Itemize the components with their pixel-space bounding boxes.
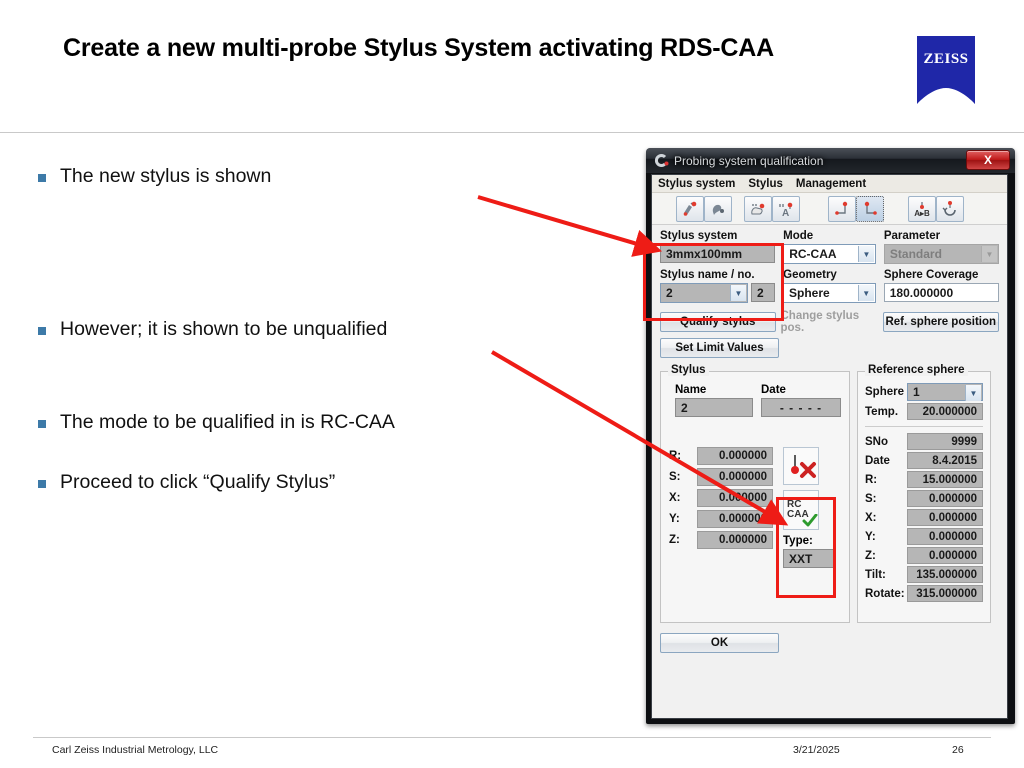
stylus-name-col-label: Name (675, 384, 753, 396)
reference-sphere-row: Date 8.4.2015 (865, 452, 983, 469)
svg-text:ZEISS: ZEISS (923, 51, 968, 67)
footer-company: Carl Zeiss Industrial Metrology, LLC (52, 744, 218, 756)
bullet-marker-icon (38, 327, 46, 335)
rs-value: 8.4.2015 (907, 452, 983, 469)
svg-text:A▸B: A▸B (914, 209, 930, 218)
stylus-angle-icon[interactable]: A (772, 196, 800, 222)
stylus-value-field: 0.000000 (697, 510, 773, 528)
mode-dropdown[interactable]: RC-CAA ▼ (783, 244, 876, 264)
zeiss-logo: ZEISS (917, 36, 975, 104)
stylus-system-new-icon[interactable] (676, 196, 704, 222)
stylus-date-col-label: Date (761, 384, 841, 396)
probe-position-selected-icon[interactable] (856, 196, 884, 222)
chevron-down-icon: ▼ (981, 246, 997, 262)
sphere-coverage-label: Sphere Coverage (884, 269, 999, 281)
stylus-value-field: 0.000000 (697, 489, 773, 507)
chevron-down-icon: ▼ (858, 285, 874, 301)
stylus-value-label: Z: (669, 534, 697, 546)
rs-label: Z: (865, 550, 907, 562)
bullet-item: Proceed to click “Qualify Stylus” (38, 471, 335, 494)
stylus-value-row: S: 0.000000 (669, 468, 773, 486)
reference-sphere-row: S: 0.000000 (865, 490, 983, 507)
reference-sphere-row: Tilt: 135.000000 (865, 566, 983, 583)
rs-value: 135.000000 (907, 566, 983, 583)
bullet-item: The mode to be qualified in is RC-CAA (38, 411, 395, 434)
toolbar-group-1 (676, 196, 732, 222)
dialog-toolbar: A (652, 193, 1007, 225)
footer-divider (33, 737, 991, 738)
header-divider (0, 132, 1024, 133)
sphere-value: 1 (913, 385, 920, 399)
stylus-hand-icon[interactable] (744, 196, 772, 222)
reference-sphere-group-title: Reference sphere (865, 364, 968, 376)
ref-sphere-position-button[interactable]: Ref. sphere position (883, 312, 999, 332)
stylus-value-label: R: (669, 450, 697, 462)
rs-value: 0.000000 (907, 490, 983, 507)
reference-sphere-group: Reference sphere Sphere 1 ▼ Temp. 20.000… (857, 371, 991, 623)
rs-label: Rotate: (865, 588, 907, 600)
toolbar-group-2: A (744, 196, 800, 222)
bullet-marker-icon (38, 420, 46, 428)
highlight-box-status-icons (776, 497, 836, 598)
sphere-coverage-field[interactable]: 180.000000 (884, 283, 999, 302)
chevron-down-icon: ▼ (858, 246, 874, 262)
geometry-value: Sphere (789, 286, 830, 300)
rs-value: 0.000000 (907, 547, 983, 564)
stylus-value-field: 0.000000 (697, 447, 773, 465)
bullet-item: The new stylus is shown (38, 165, 271, 188)
sphere-label: Sphere (865, 386, 907, 398)
stylus-unqualified-icon (783, 447, 819, 485)
mode-label: Mode (783, 230, 876, 242)
temp-label: Temp. (865, 406, 907, 418)
rs-value: 0.000000 (907, 528, 983, 545)
rs-value: 315.000000 (907, 585, 983, 602)
bullet-text: Proceed to click “Qualify Stylus” (60, 471, 335, 494)
stylus-value-label: X: (669, 492, 697, 504)
rs-value: 0.000000 (907, 509, 983, 526)
rs-label: Tilt: (865, 569, 907, 581)
menu-stylus[interactable]: Stylus (748, 178, 783, 190)
highlight-box-stylus-system (643, 243, 784, 321)
stylus-value-row: Y: 0.000000 (669, 510, 773, 528)
rs-label: S: (865, 493, 907, 505)
probe-position-icon[interactable] (828, 196, 856, 222)
bullet-text: However; it is shown to be unqualified (60, 318, 387, 341)
limit-button-row: Set Limit Values (660, 338, 999, 358)
menu-stylus-system[interactable]: Stylus system (658, 178, 735, 190)
temp-value: 20.000000 (907, 403, 983, 420)
rs-label: Date (865, 455, 907, 467)
geometry-dropdown[interactable]: Sphere ▼ (783, 283, 876, 303)
footer-page-number: 26 (952, 744, 964, 756)
ok-button-row: OK (660, 633, 999, 653)
stylus-name-readout: 2 (675, 398, 753, 417)
probing-system-qualification-dialog: Probing system qualification X Stylus sy… (646, 148, 1015, 724)
svg-text:A: A (782, 208, 789, 218)
menu-management[interactable]: Management (796, 178, 866, 190)
ok-button[interactable]: OK (660, 633, 779, 653)
parameter-label: Parameter (884, 230, 999, 242)
stylus-group-title: Stylus (668, 364, 709, 376)
stylus-values-list: R: 0.000000 S: 0.000000 X: 0.000000 (669, 447, 773, 568)
reference-sphere-divider (865, 426, 983, 427)
stylus-system-label: Stylus system (660, 230, 775, 242)
rotate-icon[interactable] (936, 196, 964, 222)
stylus-value-row: R: 0.000000 (669, 447, 773, 465)
geometry-label: Geometry (783, 269, 876, 281)
rs-value: 9999 (907, 433, 983, 450)
chevron-down-icon: ▼ (965, 385, 981, 401)
bullet-item: However; it is shown to be unqualified (38, 318, 387, 341)
rs-label: X: (865, 512, 907, 524)
bullet-text: The new stylus is shown (60, 165, 271, 188)
sphere-dropdown[interactable]: 1 ▼ (907, 383, 983, 401)
reference-sphere-row: X: 0.000000 (865, 509, 983, 526)
app-icon (654, 154, 669, 167)
parameter-dropdown: Standard ▼ (884, 244, 999, 264)
bullet-marker-icon (38, 480, 46, 488)
a-to-b-icon[interactable]: A▸B (908, 196, 936, 222)
rs-value: 15.000000 (907, 471, 983, 488)
reference-sphere-row: Z: 0.000000 (865, 547, 983, 564)
bullet-marker-icon (38, 174, 46, 182)
change-stylus-pos-button: Change stylus pos. (781, 312, 878, 332)
close-icon[interactable]: X (966, 150, 1010, 170)
mode-value: RC-CAA (789, 247, 836, 261)
page-title: Create a new multi-probe Stylus System a… (63, 33, 843, 64)
reference-sphere-row: R: 15.000000 (865, 471, 983, 488)
stylus-value-label: Y: (669, 513, 697, 525)
stylus-value-label: S: (669, 471, 697, 483)
toolbar-group-3 (828, 196, 884, 222)
stylus-value-row: Z: 0.000000 (669, 531, 773, 549)
set-limit-values-button[interactable]: Set Limit Values (660, 338, 779, 358)
form-label-row-1: Stylus system Mode Parameter (660, 230, 999, 244)
reference-sphere-row: Y: 0.000000 (865, 528, 983, 545)
reference-sphere-row: Rotate: 315.000000 (865, 585, 983, 602)
sphere-select-row: Sphere 1 ▼ (865, 383, 983, 401)
stylus-date-readout: - - - - - (761, 398, 841, 417)
rs-label: Y: (865, 531, 907, 543)
footer-date: 3/21/2025 (793, 744, 840, 756)
stylus-value-row: X: 0.000000 (669, 489, 773, 507)
stylus-value-field: 0.000000 (697, 468, 773, 486)
temp-row: Temp. 20.000000 (865, 403, 983, 420)
dialog-menubar: Stylus system Stylus Management (652, 175, 1007, 193)
bullet-text: The mode to be qualified in is RC-CAA (60, 411, 395, 434)
dialog-titlebar[interactable]: Probing system qualification X (646, 148, 1015, 173)
parameter-value: Standard (890, 247, 942, 261)
stylus-value-field: 0.000000 (697, 531, 773, 549)
toolbar-group-4: A▸B (908, 196, 964, 222)
stylus-system-edit-icon[interactable] (704, 196, 732, 222)
rs-label: SNo (865, 436, 907, 448)
reference-sphere-row: SNo 9999 (865, 433, 983, 450)
rs-label: R: (865, 474, 907, 486)
dialog-title: Probing system qualification (674, 154, 823, 168)
